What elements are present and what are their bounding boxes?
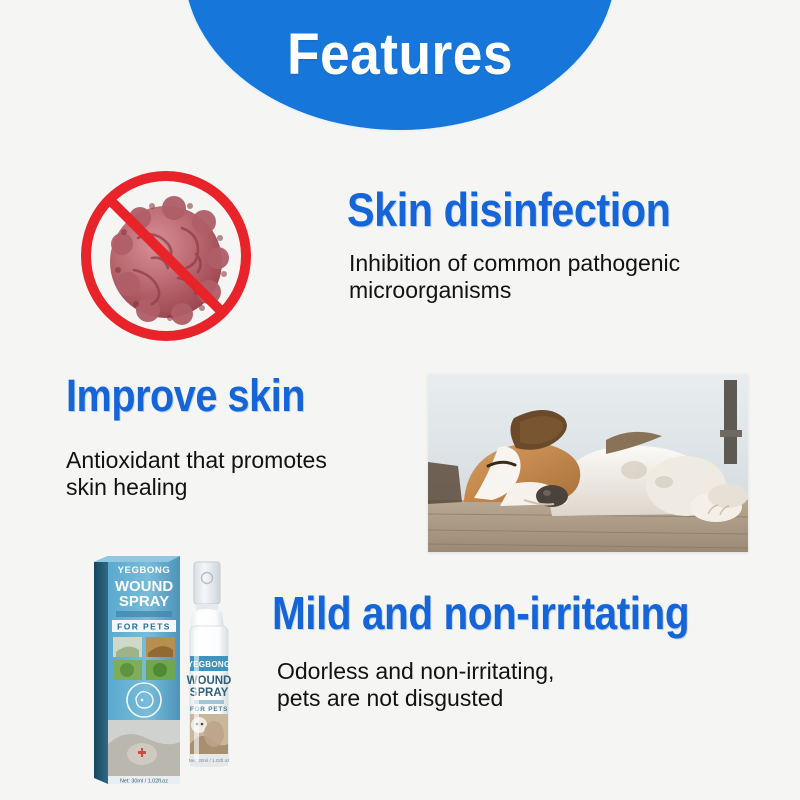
svg-text:FOR PETS: FOR PETS <box>117 622 171 632</box>
germ-prohibited-icon <box>78 166 254 346</box>
svg-text:YEGBONG: YEGBONG <box>118 565 171 576</box>
page-title: Features <box>201 26 598 84</box>
product-pack-shot: YEGBONG WOUND SPRAY FOR PETS <box>86 548 256 792</box>
svg-text:YEGBONG: YEGBONG <box>188 660 231 669</box>
product-net-contents-text: Net: 30ml / 1.02fl.oz <box>0 0 1 1</box>
svg-text:Net: 30ml / 1.02fl.oz: Net: 30ml / 1.02fl.oz <box>120 779 168 785</box>
product-name-line1-text: WOUND <box>0 0 1 1</box>
product-brand-text: YEGBONG <box>0 0 1 1</box>
dog-photo-alt-text: Sleeping brown and white dog lying on a … <box>0 0 1 1</box>
feature-body-skin-disinfection: Inhibition of common pathogenic microorg… <box>349 250 779 304</box>
infographic-page: Features <box>0 0 800 800</box>
sleeping-dog-photo <box>428 374 748 552</box>
svg-text:SPRAY: SPRAY <box>119 593 169 610</box>
feature-body-improve-skin: Antioxidant that promotes skin healing <box>66 447 426 501</box>
feature-body-mild-non-irritating: Odorless and non-irritating, pets are no… <box>277 658 697 712</box>
feature-heading-skin-disinfection: Skin disinfection <box>347 186 670 233</box>
svg-text:WOUND: WOUND <box>187 675 232 687</box>
product-name-line2-text: SPRAY <box>0 0 1 1</box>
product-audience-text: FOR PETS <box>0 0 1 1</box>
feature-heading-mild-non-irritating: Mild and non-irritating <box>272 590 689 636</box>
feature-heading-improve-skin: Improve skin <box>66 373 305 418</box>
